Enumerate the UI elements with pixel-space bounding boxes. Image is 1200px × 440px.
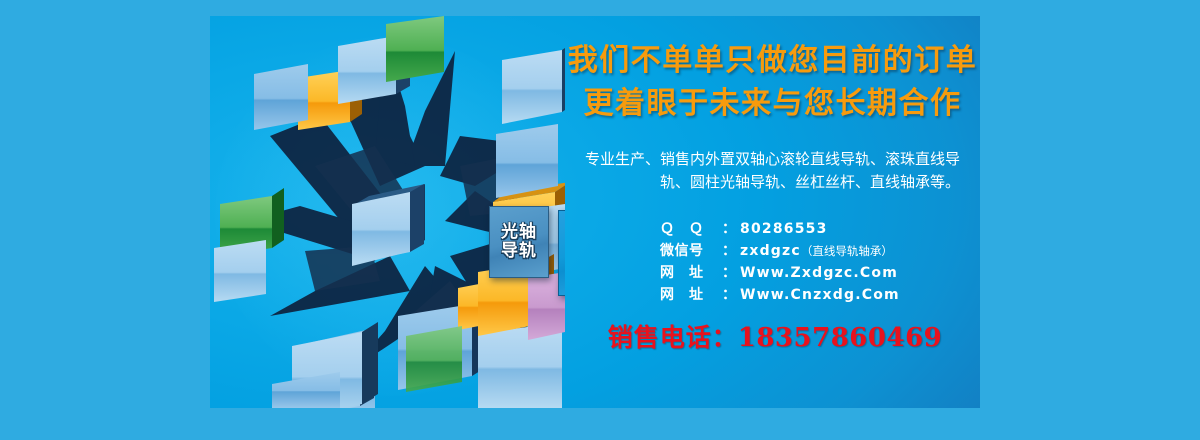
contact-row-website-1: 网 址 ： Www.Zxdgzc.Com xyxy=(660,262,900,284)
product-label-optical-shaft-guide-line2: 导轨 xyxy=(501,242,537,261)
product-label-optical-shaft-guide[interactable]: 光轴 导轨 xyxy=(489,206,549,278)
wechat-note: （直线导轨轴承） xyxy=(801,240,893,262)
wechat-value[interactable]: zxdgzc xyxy=(740,240,801,262)
description-text: 专业生产、销售内外置双轴心滚轮直线导轨、滚珠直线导轨、圆柱光轴导轨、丝杠丝杆、直… xyxy=(585,148,960,194)
contact-info-block: Ｑ Ｑ ： 80286553 微信号 ： zxdgzc （直线导轨轴承） 网 址… xyxy=(660,218,900,306)
sales-phone-label: 销售电话： xyxy=(608,323,738,352)
contact-row-qq: Ｑ Ｑ ： 80286553 xyxy=(660,218,900,240)
website-1-value[interactable]: Www.Zxdgzc.Com xyxy=(740,262,898,284)
product-label-roller-guide[interactable]: 滚轮 导轨 xyxy=(558,210,565,296)
website-2-value[interactable]: Www.Cnzxdg.Com xyxy=(740,284,900,306)
promotional-banner: 滚珠 导轨 光轴 导轨 滚轮 导轨 丝杠 丝杆 我们不单单只做您目前的订单 更着… xyxy=(210,16,980,408)
wechat-colon: ： xyxy=(722,240,736,262)
website-1-colon: ： xyxy=(722,262,736,284)
contact-row-website-2: 网 址 ： Www.Cnzxdg.Com xyxy=(660,284,900,306)
headline-line-1: 我们不单单只做您目前的订单 xyxy=(565,40,980,83)
sales-phone-number[interactable]: 18357860469 xyxy=(738,323,943,353)
banner-content: 我们不单单只做您目前的订单 更着眼于未来与您长期合作 专业生产、销售内外置双轴心… xyxy=(565,16,980,408)
product-label-optical-shaft-guide-line1: 光轴 xyxy=(501,223,537,242)
website-2-colon: ： xyxy=(722,284,736,306)
sales-phone[interactable]: 销售电话：18357860469 xyxy=(575,318,975,354)
headline: 我们不单单只做您目前的订单 更着眼于未来与您长期合作 xyxy=(565,40,980,125)
page-root: 滚珠 导轨 光轴 导轨 滚轮 导轨 丝杠 丝杆 我们不单单只做您目前的订单 更着… xyxy=(0,0,1200,440)
wechat-label: 微信号 xyxy=(660,240,722,262)
qq-colon: ： xyxy=(722,218,736,240)
headline-line-2: 更着眼于未来与您长期合作 xyxy=(565,83,980,126)
website-2-label: 网 址 xyxy=(660,284,722,306)
website-1-label: 网 址 xyxy=(660,262,722,284)
qq-value[interactable]: 80286553 xyxy=(740,218,828,240)
exploding-cubes-illustration: 滚珠 导轨 光轴 导轨 滚轮 导轨 丝杠 丝杆 xyxy=(210,16,565,408)
qq-label: Ｑ Ｑ xyxy=(660,218,722,240)
contact-row-wechat: 微信号 ： zxdgzc （直线导轨轴承） xyxy=(660,240,900,262)
